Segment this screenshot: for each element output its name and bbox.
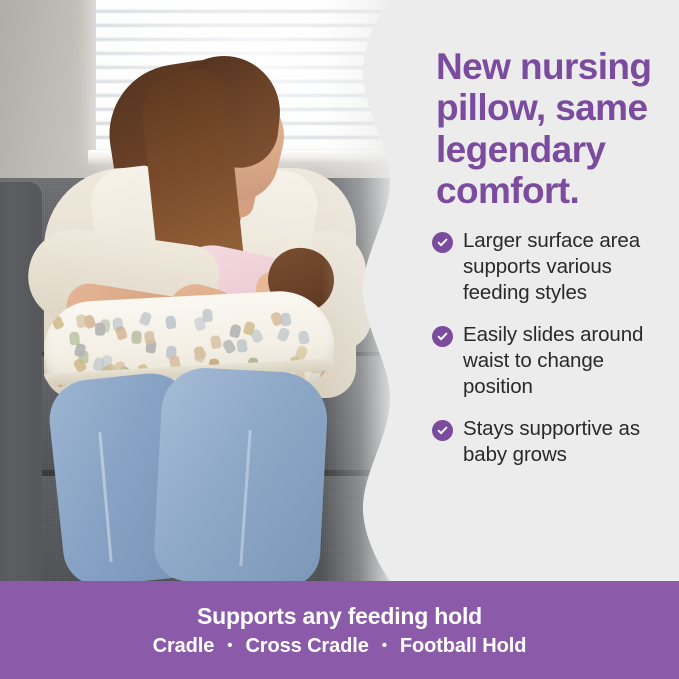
hold-label-football-hold: Football Hold xyxy=(400,635,526,658)
pillow-print-motif xyxy=(277,327,291,343)
list-item: Larger surface area supports various fee… xyxy=(432,228,670,306)
pillow-print-motif xyxy=(229,324,242,339)
pillow-print-motif xyxy=(221,338,236,354)
hold-label-cross-cradle: Cross Cradle xyxy=(245,635,368,658)
pillow-print-motif xyxy=(138,311,152,327)
copy-panel: New nursing pillow, same legendary comfo… xyxy=(392,0,679,581)
pillow-print-motif xyxy=(144,330,156,344)
pillow-print-motif xyxy=(236,339,247,353)
pillow-print-motif xyxy=(164,316,176,330)
page-title: New nursing pillow, same legendary comfo… xyxy=(436,46,666,212)
hold-label-cradle: Cradle xyxy=(153,635,215,658)
list-item: Easily slides around waist to change pos… xyxy=(432,322,670,400)
benefit-text: Easily slides around waist to change pos… xyxy=(463,322,670,400)
pillow-print-motif xyxy=(51,314,65,330)
benefit-text: Stays supportive as baby grows xyxy=(463,416,670,468)
sofa-armrest xyxy=(0,182,42,581)
check-circle-icon xyxy=(432,420,453,441)
product-feature-graphic: New nursing pillow, same legendary comfo… xyxy=(0,0,679,679)
benefit-text: Larger surface area supports various fee… xyxy=(463,228,670,306)
pillow-print-motif xyxy=(115,325,128,340)
feeding-hold-banner: Supports any feeding hold Cradle • Cross… xyxy=(0,581,679,679)
check-circle-icon xyxy=(432,326,453,347)
pillow-print-motif xyxy=(297,330,309,345)
benefit-list: Larger surface area supports various fee… xyxy=(432,228,670,468)
pillow-print-motif xyxy=(69,332,80,346)
check-circle-icon xyxy=(432,232,453,253)
banner-title: Supports any feeding hold xyxy=(197,603,482,630)
bullet-separator-icon: • xyxy=(382,638,387,653)
pillow-print-motif xyxy=(95,322,105,335)
feeding-hold-list: Cradle • Cross Cradle • Football Hold xyxy=(153,635,527,658)
pillow-print-motif xyxy=(209,335,221,350)
lifestyle-photo xyxy=(0,0,392,581)
pillow-print-motif xyxy=(131,330,141,343)
bullet-separator-icon: • xyxy=(227,638,232,653)
list-item: Stays supportive as baby grows xyxy=(432,416,670,468)
photo-scene xyxy=(0,0,392,581)
